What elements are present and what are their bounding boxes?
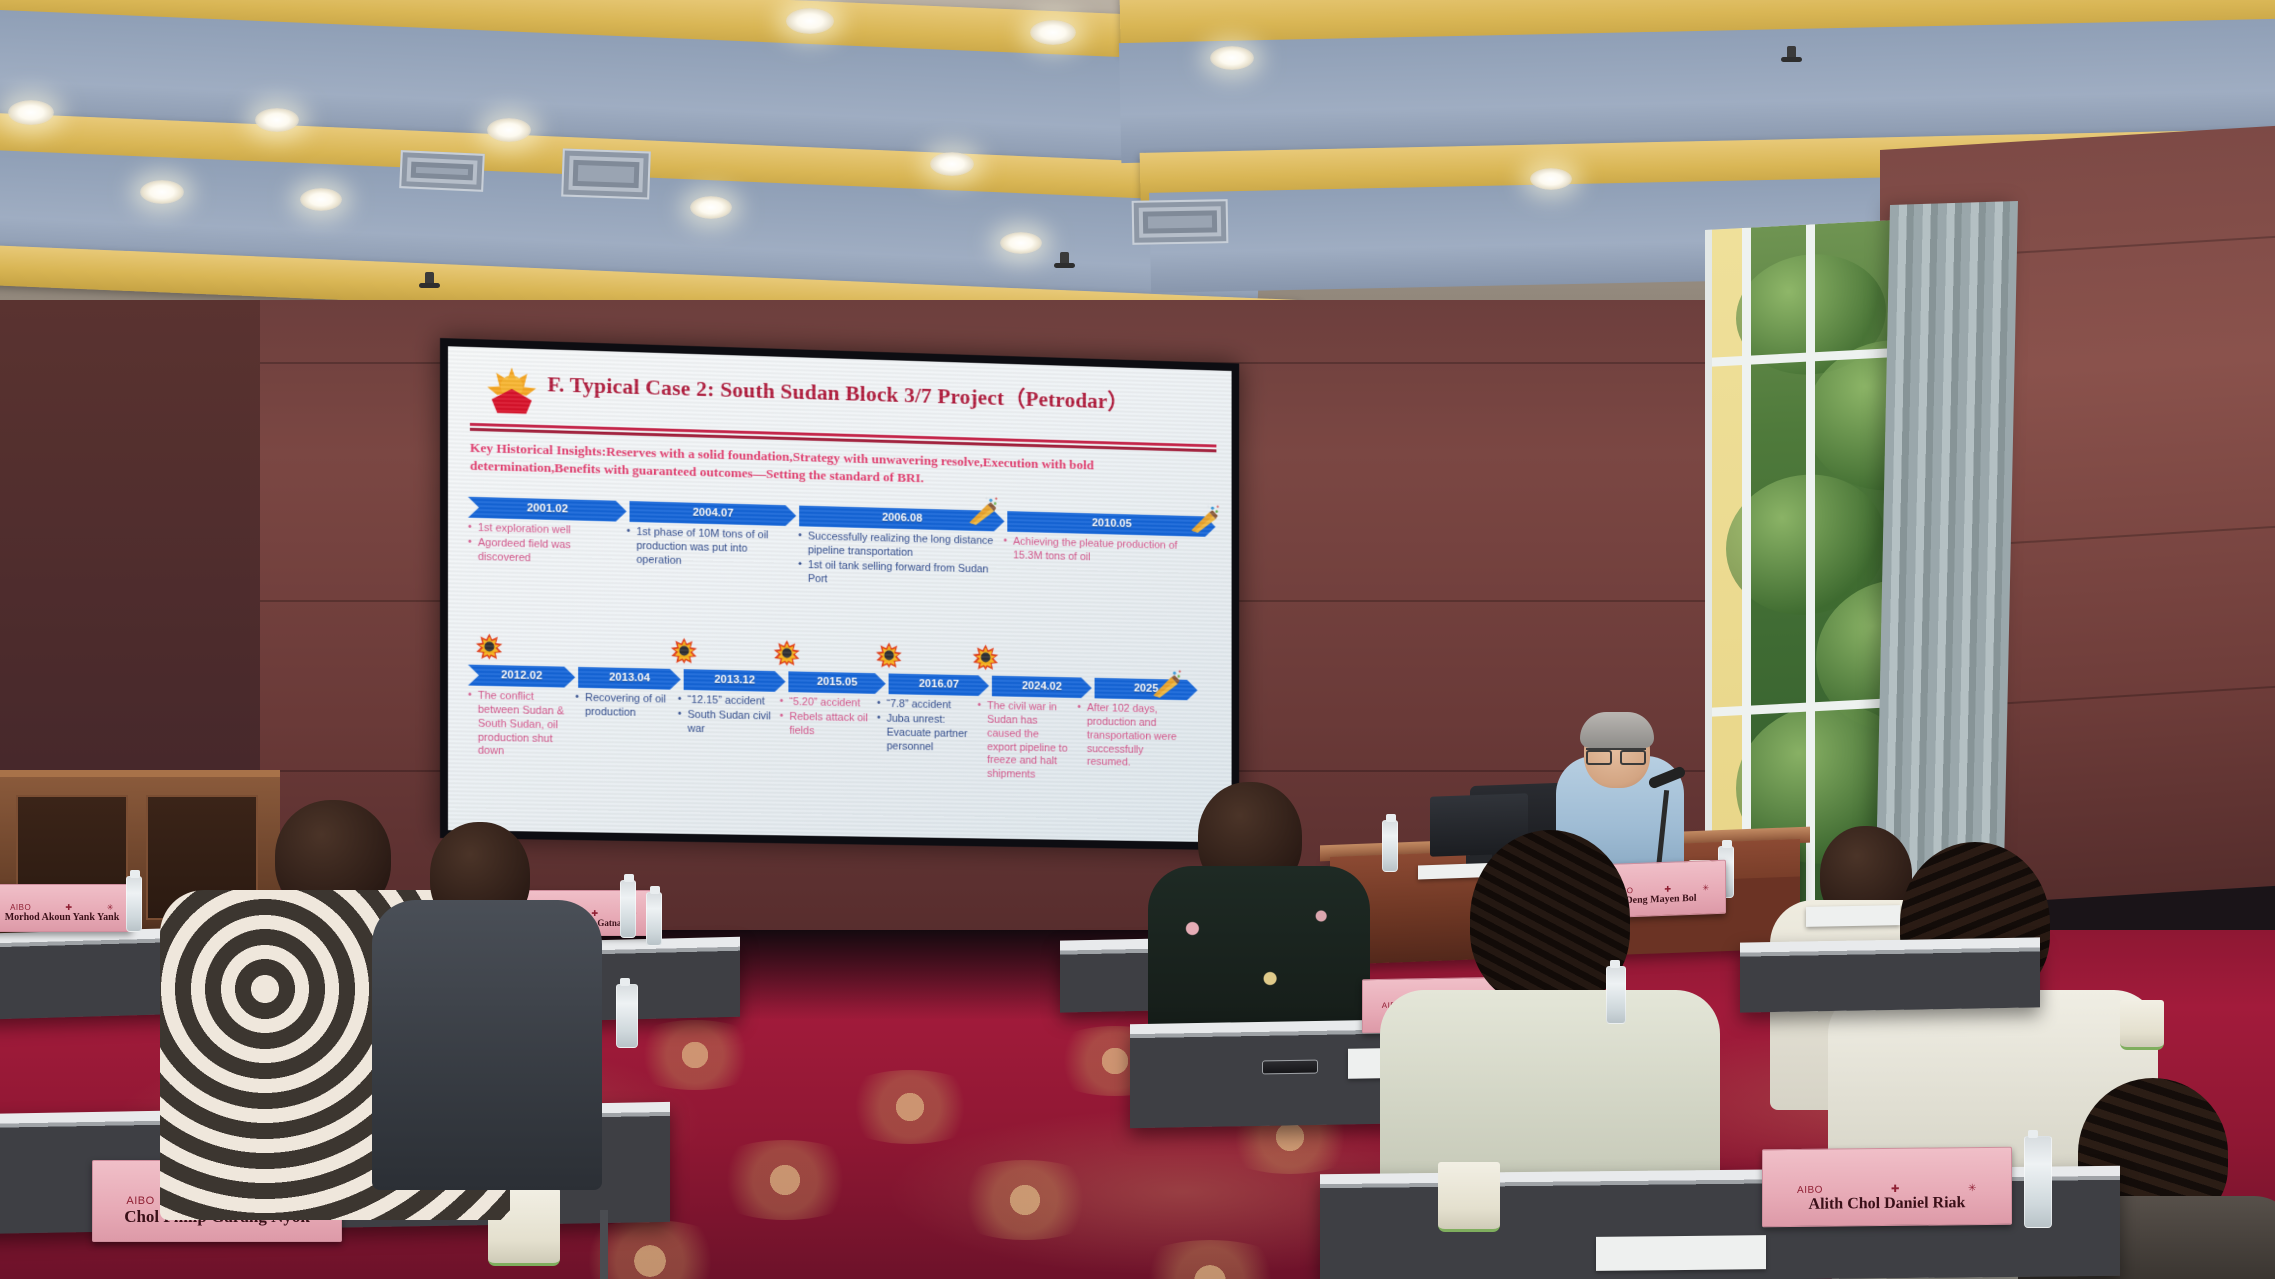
milestone-column: Recovering of oil production [575, 692, 678, 778]
milestone-column: “12.15” accident South Sudan civil war [678, 694, 780, 779]
bullet: 1st phase of 10M tons of oil production … [627, 526, 791, 571]
sprinkler-head-icon [1787, 46, 1796, 62]
milestone-column: The conflict between Sudan & South Sudan… [468, 690, 575, 776]
bullet: Juba unrest: Evacuate partner personnel [877, 713, 970, 756]
milestone-bullets: Recovering of oil production [575, 692, 670, 721]
paper-cup[interactable] [1438, 1162, 1500, 1232]
ceiling-downlight [786, 8, 834, 34]
timeline-bottom-columns: The conflict between Sudan & South Sudan… [468, 690, 1218, 787]
bullet: Achieving the pleatue production of 15.3… [1003, 536, 1187, 568]
air-vent-icon [561, 148, 651, 199]
bullet: The conflict between Sudan & South Sudan… [468, 690, 567, 761]
bullet: Rebels attack oil fields [780, 711, 870, 740]
placard-logo-left: AIBO [1797, 1185, 1823, 1196]
placard-name: Alith Chol Daniel Riak [1763, 1194, 2011, 1227]
milestone-chevron[interactable]: 2001.02 [468, 497, 627, 522]
placard-logo-mid: ✚ [1891, 1184, 1900, 1195]
bullet: The civil war in Sudan has caused the ex… [977, 700, 1069, 783]
placard-logo-left: AIBO [10, 903, 31, 912]
ceiling-downlight [1530, 168, 1572, 190]
ceiling-downlight [1030, 20, 1076, 45]
milestone-chevron[interactable]: 2010.05 [1007, 511, 1215, 537]
milestone-chevron[interactable]: 2004.07 [630, 501, 797, 526]
window-curtain[interactable] [1875, 201, 2018, 906]
milestone-bullets: After 102 days, production and transport… [1077, 702, 1184, 772]
milestone-column: Successfully realizing the long distance… [798, 530, 1003, 592]
water-bottle[interactable] [620, 880, 636, 938]
bullet: After 102 days, production and transport… [1077, 702, 1184, 772]
audience-table [1740, 937, 2040, 1012]
milestone-column: 1st phase of 10M tons of oil production … [627, 526, 799, 587]
presenter-glasses-icon [1586, 748, 1646, 759]
smartphone[interactable] [1262, 1060, 1318, 1075]
placard-logo-mid: ✚ [1664, 885, 1671, 894]
timeline-bottom: 2012.02 2013.04 2013.12 2015.05 2016.07 [468, 665, 1218, 787]
placard-logo-mid: ✚ [65, 903, 72, 912]
ceiling-downlight [1000, 232, 1042, 254]
air-vent-icon [399, 150, 485, 192]
milestone-column: “7.8” accident Juba unrest: Evacuate par… [877, 698, 978, 783]
milestone-bullets: 1st exploration well Agordeed field was … [468, 522, 619, 568]
placard-logo-left: AIBO [126, 1195, 154, 1207]
explosion-icon [774, 639, 800, 666]
ceiling-downlight [300, 188, 342, 211]
explosion-icon [973, 644, 999, 671]
placard-logo-right: ✳ [107, 903, 114, 912]
milestone-chevron[interactable]: 2024.02 [992, 676, 1092, 699]
bullet: “5.20” accident [780, 696, 870, 711]
name-placard: AIBO ✚ ✳ Morhod Akoun Yank Yank [0, 884, 132, 932]
ceiling-downlight [487, 118, 531, 142]
water-bottle[interactable] [1382, 820, 1398, 872]
explosion-icon [876, 642, 902, 669]
document[interactable] [1596, 1235, 1766, 1271]
milestone-column: The civil war in Sudan has caused the ex… [977, 700, 1077, 784]
milestone-bullets: “7.8” accident Juba unrest: Evacuate par… [877, 698, 970, 755]
water-bottle[interactable] [646, 892, 662, 946]
bullet: “12.15” accident [678, 694, 772, 710]
party-popper-icon [1188, 504, 1220, 534]
bullet: South Sudan civil war [678, 709, 772, 738]
placard-logo-right: ✳ [1702, 883, 1709, 892]
slide-title: F. Typical Case 2: South Sudan Block 3/7… [547, 371, 1212, 416]
sprinkler-head-icon [1060, 252, 1069, 268]
party-popper-icon [966, 496, 999, 526]
milestone-bullets: “12.15” accident South Sudan civil war [678, 694, 772, 738]
explosion-icon [476, 633, 503, 661]
presenter-hair [1580, 712, 1654, 748]
milestone-bullets: 1st phase of 10M tons of oil production … [627, 526, 791, 571]
milestone-column: After 102 days, production and transport… [1077, 702, 1191, 786]
milestone-chevron[interactable]: 2012.02 [468, 665, 575, 688]
party-popper-icon [1150, 669, 1182, 699]
milestone-chevron[interactable]: 2013.12 [684, 669, 786, 692]
milestone-chevron[interactable]: 2016.07 [889, 673, 989, 696]
bullet: Agordeed field was discovered [468, 537, 619, 568]
ceiling-downlight [8, 100, 54, 125]
ceiling-downlight [690, 196, 732, 219]
bullet: “7.8” accident [877, 698, 970, 714]
placard-logo-right: ✳ [1968, 1183, 1977, 1194]
projector-screen: F. Typical Case 2: South Sudan Block 3/7… [440, 338, 1239, 850]
ceiling-downlight [140, 180, 184, 204]
cnpc-petrochina-logo-icon [484, 363, 540, 421]
milestone-column: “5.20” accident Rebels attack oil fields [780, 696, 877, 781]
air-vent-icon [1132, 199, 1229, 245]
water-bottle[interactable] [2024, 1136, 2052, 1228]
milestone-bullets: “5.20” accident Rebels attack oil fields [780, 696, 870, 740]
ceiling-downlight [930, 152, 974, 176]
milestone-column: Achieving the pleatue production of 15.3… [1003, 536, 1194, 597]
milestone-chevron[interactable]: 2013.04 [578, 667, 681, 690]
conference-room-scene: F. Typical Case 2: South Sudan Block 3/7… [0, 0, 2275, 1279]
document[interactable] [1806, 905, 1900, 927]
explosion-icon [671, 637, 698, 664]
sprinkler-head-icon [425, 272, 434, 288]
bullet: 1st oil tank selling forward from Sudan … [798, 559, 996, 591]
placard-name: Morhod Akoun Yank Yank [0, 912, 131, 931]
ceiling-downlight [255, 108, 299, 132]
name-placard: AIBO ✚ ✳ Alith Chol Daniel Riak [1762, 1147, 2012, 1228]
milestone-bullets: The civil war in Sudan has caused the ex… [977, 700, 1069, 783]
presentation-slide: F. Typical Case 2: South Sudan Block 3/7… [448, 346, 1232, 842]
water-bottle[interactable] [126, 876, 142, 932]
milestone-bullets: The conflict between Sudan & South Sudan… [468, 690, 567, 761]
water-bottle[interactable] [1606, 966, 1626, 1024]
bullet: Recovering of oil production [575, 692, 670, 721]
paper-cup[interactable] [2120, 1000, 2164, 1050]
timeline-top: 2001.02 2004.07 2006.08 2010.05 [468, 497, 1218, 597]
milestone-bullets: Achieving the pleatue production of 15.3… [1003, 536, 1187, 568]
water-bottle[interactable] [616, 984, 638, 1048]
milestone-bullets: Successfully realizing the long distance… [798, 530, 996, 591]
ceiling-downlight [1210, 46, 1254, 70]
bullet: Successfully realizing the long distance… [798, 530, 996, 562]
milestone-column: 1st exploration well Agordeed field was … [468, 522, 627, 583]
milestone-chevron[interactable]: 2015.05 [788, 671, 885, 694]
